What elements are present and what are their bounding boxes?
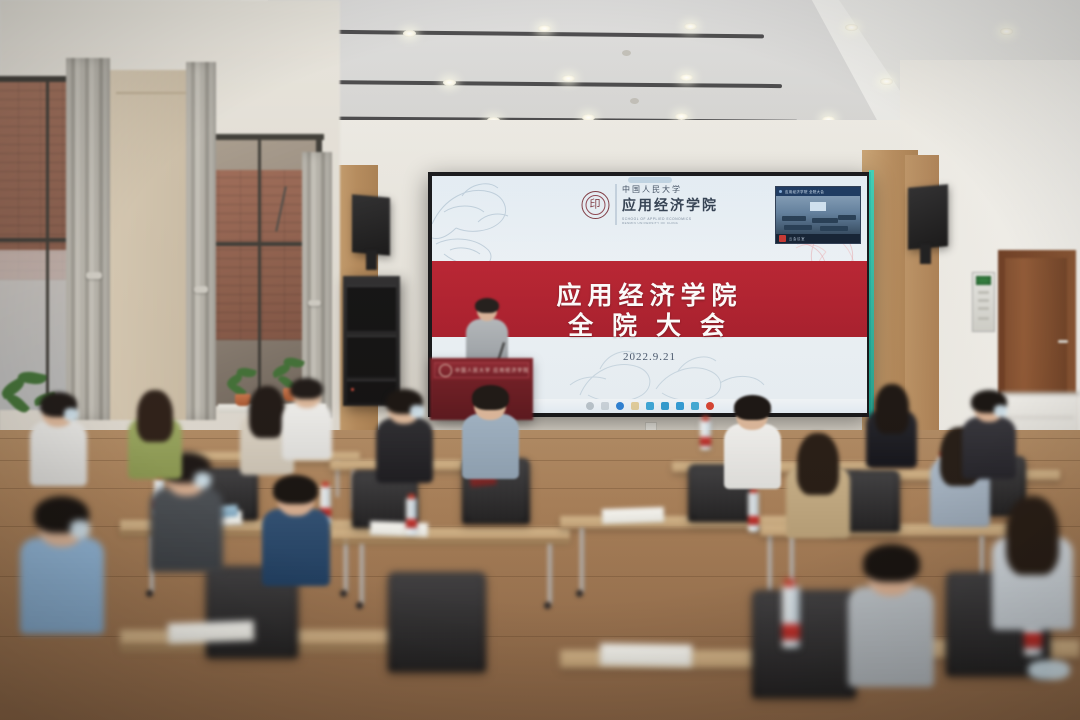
widgets-icon[interactable] <box>601 402 609 410</box>
desk-leg <box>580 528 584 592</box>
downlight <box>538 25 551 32</box>
desk-leg <box>768 528 772 592</box>
person-torso <box>262 509 330 587</box>
notebook <box>370 521 428 537</box>
wall-speaker-left <box>352 194 390 255</box>
presenter-body <box>466 319 508 363</box>
speaker-bracket-right <box>920 244 931 264</box>
person-torso <box>848 587 934 686</box>
downlight <box>1000 28 1013 35</box>
logo-university-name: 中国人民大学 <box>622 184 718 195</box>
desk <box>330 528 570 540</box>
person-hair <box>273 475 318 504</box>
curtain-mid[interactable] <box>186 62 216 420</box>
face-mask <box>410 405 424 418</box>
water-bottle <box>700 420 711 450</box>
person-hair <box>472 385 509 410</box>
store-icon[interactable] <box>646 402 654 410</box>
attendee-right-front-gray <box>848 548 934 708</box>
person-hair <box>875 384 909 434</box>
meeting-app-icon[interactable] <box>661 402 669 410</box>
person-hair <box>1006 496 1059 575</box>
rack-led <box>351 388 354 391</box>
chair-caster <box>544 602 551 609</box>
person-torso <box>462 414 519 479</box>
attendee-left-navy <box>262 478 330 603</box>
attendee-right-white-shirt <box>724 398 781 503</box>
person-torso <box>150 488 223 572</box>
attendee-mid-bluegray <box>462 388 519 493</box>
chat-app-icon[interactable] <box>676 402 684 410</box>
attendee-right-black <box>866 386 917 481</box>
curtain-left[interactable] <box>66 58 110 420</box>
downlight <box>562 75 575 82</box>
person-torso <box>376 418 433 483</box>
podium-seal-icon <box>439 364 452 377</box>
chair-caster <box>356 602 363 609</box>
notebook <box>600 643 692 667</box>
attendee-front-left-blue-hoodie <box>20 500 104 655</box>
desk-edge <box>330 540 570 544</box>
curtain-tieback[interactable] <box>86 272 102 279</box>
face-mask-on-desk <box>1028 660 1070 680</box>
person-hair <box>863 544 920 581</box>
presenter-hair <box>475 298 499 313</box>
curtain-tieback[interactable] <box>194 286 208 293</box>
face-mask <box>194 472 211 488</box>
downlight <box>675 113 688 120</box>
person-hair <box>734 395 771 420</box>
pip-remote-screen <box>810 202 826 211</box>
wall-speaker-right <box>908 184 948 249</box>
person-torso <box>724 424 781 489</box>
attendee-right-front-pale <box>992 500 1073 650</box>
person-hair <box>797 433 839 495</box>
magnolia-line-art-topleft <box>432 178 536 268</box>
record-icon[interactable] <box>706 402 714 410</box>
attendee-right-darkmask <box>962 392 1016 492</box>
screen-edge-light <box>869 170 874 419</box>
downlight <box>880 78 893 85</box>
downlight <box>845 24 858 31</box>
slide-top-chip <box>628 177 672 183</box>
pip-title: 应用经济学院 全院大会 <box>785 189 824 194</box>
face-mask <box>994 405 1007 417</box>
pip-record-badge <box>779 235 786 242</box>
desk-leg <box>548 544 552 604</box>
pip-title-bar: 应用经济学院 全院大会 <box>776 187 860 196</box>
sprinkler-head <box>630 98 639 104</box>
attendee-left-white <box>30 395 87 500</box>
chair-caster <box>576 590 583 597</box>
room-control-panel[interactable] <box>972 272 995 332</box>
notebook <box>168 621 255 644</box>
downlight <box>684 23 697 30</box>
attendee-mid-white <box>282 380 332 472</box>
logo-school-name: 应用经济学院 <box>622 195 718 215</box>
desk-leg <box>344 536 348 592</box>
window-mullion <box>258 134 261 406</box>
logo-english-university: RENMIN UNIVERSITY OF CHINA <box>622 221 718 225</box>
curtain-tieback[interactable] <box>308 300 321 306</box>
chair-caster <box>146 590 153 597</box>
downlight <box>403 30 416 37</box>
pip-footer: 云 会 议 室 <box>776 234 860 243</box>
pip-footer-label: 云 会 议 室 <box>789 236 804 241</box>
av-equipment-rack <box>343 276 400 406</box>
window-mullion <box>46 76 49 416</box>
folder-icon[interactable] <box>631 402 639 410</box>
chair-caster <box>340 590 347 597</box>
person-hair <box>290 378 323 400</box>
podium-plaque: 中国人民大学 应用经济学院 <box>434 362 529 378</box>
video-conference-window[interactable]: 应用经济学院 全院大会 云 会 议 室 <box>775 186 861 244</box>
chair <box>388 572 486 672</box>
attendee-left-green <box>128 392 182 492</box>
door-handle[interactable] <box>1058 340 1068 343</box>
speaker-bracket-left <box>366 250 377 270</box>
face-mask <box>70 520 90 539</box>
wall-reveal-line <box>116 92 186 94</box>
downlight <box>443 79 456 86</box>
mail-icon[interactable] <box>691 402 699 410</box>
control-panel-display <box>976 276 991 285</box>
water-bottle <box>406 498 417 534</box>
search-icon[interactable] <box>586 402 594 410</box>
conference-room-photo: 印 中国人民大学 应用经济学院 SCHOOL OF APPLIED ECONOM… <box>0 0 1080 720</box>
person-torso <box>962 417 1016 479</box>
attendee-mid-stripe <box>376 392 433 497</box>
pip-status-dot <box>779 190 782 193</box>
face-mask <box>64 408 78 421</box>
person-torso <box>282 403 332 460</box>
person-hair <box>249 386 285 439</box>
wall-segment <box>104 70 196 420</box>
chair <box>752 590 856 698</box>
university-seal-icon: 印 <box>581 191 609 219</box>
edge-browser-icon[interactable] <box>616 402 624 410</box>
podium-plaque-text: 中国人民大学 应用经济学院 <box>455 367 529 374</box>
notebook <box>602 507 664 524</box>
attendee-right-floral <box>786 436 850 554</box>
downlight <box>680 74 693 81</box>
pip-video-feed <box>776 196 860 234</box>
person-hair <box>137 390 173 443</box>
person-torso <box>30 421 87 486</box>
sprinkler-head <box>622 50 631 56</box>
water-bottle <box>782 586 800 648</box>
desk-leg <box>360 544 364 604</box>
university-logo: 印 中国人民大学 应用经济学院 SCHOOL OF APPLIED ECONOM… <box>581 184 718 225</box>
person-torso <box>20 538 104 634</box>
